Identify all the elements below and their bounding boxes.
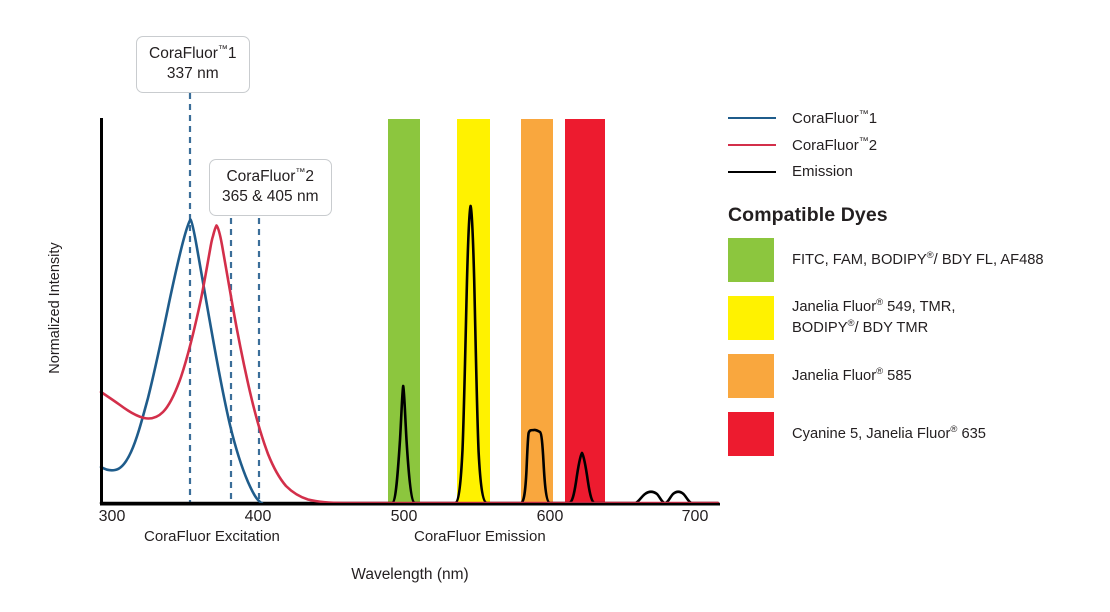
callout-corafluor2-line1: CoraFluor™2	[222, 167, 319, 187]
band-fitc	[388, 119, 420, 503]
xtick-500: 500	[374, 508, 434, 526]
callout-corafluor2-line2: 365 & 405 nm	[222, 187, 319, 207]
legend-label-emission: Emission	[792, 163, 853, 180]
dye-label-jf585: Janelia Fluor® 585	[792, 366, 912, 387]
corafluor1-curve	[101, 220, 262, 504]
dye-color-swatch-jf585	[728, 354, 774, 398]
dye-item-jf585: Janelia Fluor® 585	[728, 354, 1098, 398]
dye-label-jf549: Janelia Fluor® 549, TMR,BODIPY®/ BDY TMR	[792, 297, 955, 338]
callout-corafluor1: CoraFluor™1 337 nm	[136, 36, 250, 93]
xtick-400: 400	[228, 508, 288, 526]
dye-item-fitc: FITC, FAM, BODIPY®/ BDY FL, AF488	[728, 238, 1098, 282]
dye-item-jf549: Janelia Fluor® 549, TMR,BODIPY®/ BDY TMR	[728, 296, 1098, 340]
legend-item-emission: Emission	[728, 158, 1098, 185]
compatible-dyes-title: Compatible Dyes	[728, 204, 1098, 227]
dye-label-cy5: Cyanine 5, Janelia Fluor® 635	[792, 424, 986, 445]
dye-label-fitc: FITC, FAM, BODIPY®/ BDY FL, AF488	[792, 250, 1044, 271]
dye-bands	[388, 119, 605, 503]
band-jf585	[521, 119, 553, 503]
legend-line-swatch-corafluor1	[728, 117, 776, 119]
legend-panel: CoraFluor™1 CoraFluor™2 Emission Compati…	[728, 104, 1098, 470]
dye-color-swatch-fitc	[728, 238, 774, 282]
legend-item-corafluor2: CoraFluor™2	[728, 131, 1098, 158]
xtick-300: 300	[82, 508, 142, 526]
legend-label-corafluor2: CoraFluor™2	[792, 136, 877, 154]
callout-corafluor1-line2: 337 nm	[149, 64, 237, 84]
legend-label-corafluor1: CoraFluor™1	[792, 109, 877, 127]
figure-root: CoraFluor™1 337 nm CoraFluor™2 365 & 405…	[0, 0, 1110, 612]
legend-line-swatch-corafluor2	[728, 144, 776, 146]
dye-item-cy5: Cyanine 5, Janelia Fluor® 635	[728, 412, 1098, 456]
dye-color-swatch-cy5	[728, 412, 774, 456]
y-axis-title: Normalized Intensity	[47, 218, 63, 398]
xtick-700: 700	[665, 508, 725, 526]
sublabel-emission: CoraFluor Emission	[414, 528, 546, 545]
dye-color-swatch-jf549	[728, 296, 774, 340]
legend-item-corafluor1: CoraFluor™1	[728, 104, 1098, 131]
callout-corafluor1-line1: CoraFluor™1	[149, 44, 237, 64]
sublabel-excitation: CoraFluor Excitation	[144, 528, 280, 545]
legend-line-swatch-emission	[728, 171, 776, 173]
xtick-600: 600	[520, 508, 580, 526]
callout-corafluor2: CoraFluor™2 365 & 405 nm	[209, 159, 332, 216]
band-cy5	[565, 119, 605, 503]
x-axis-title: Wavelength (nm)	[0, 566, 820, 584]
